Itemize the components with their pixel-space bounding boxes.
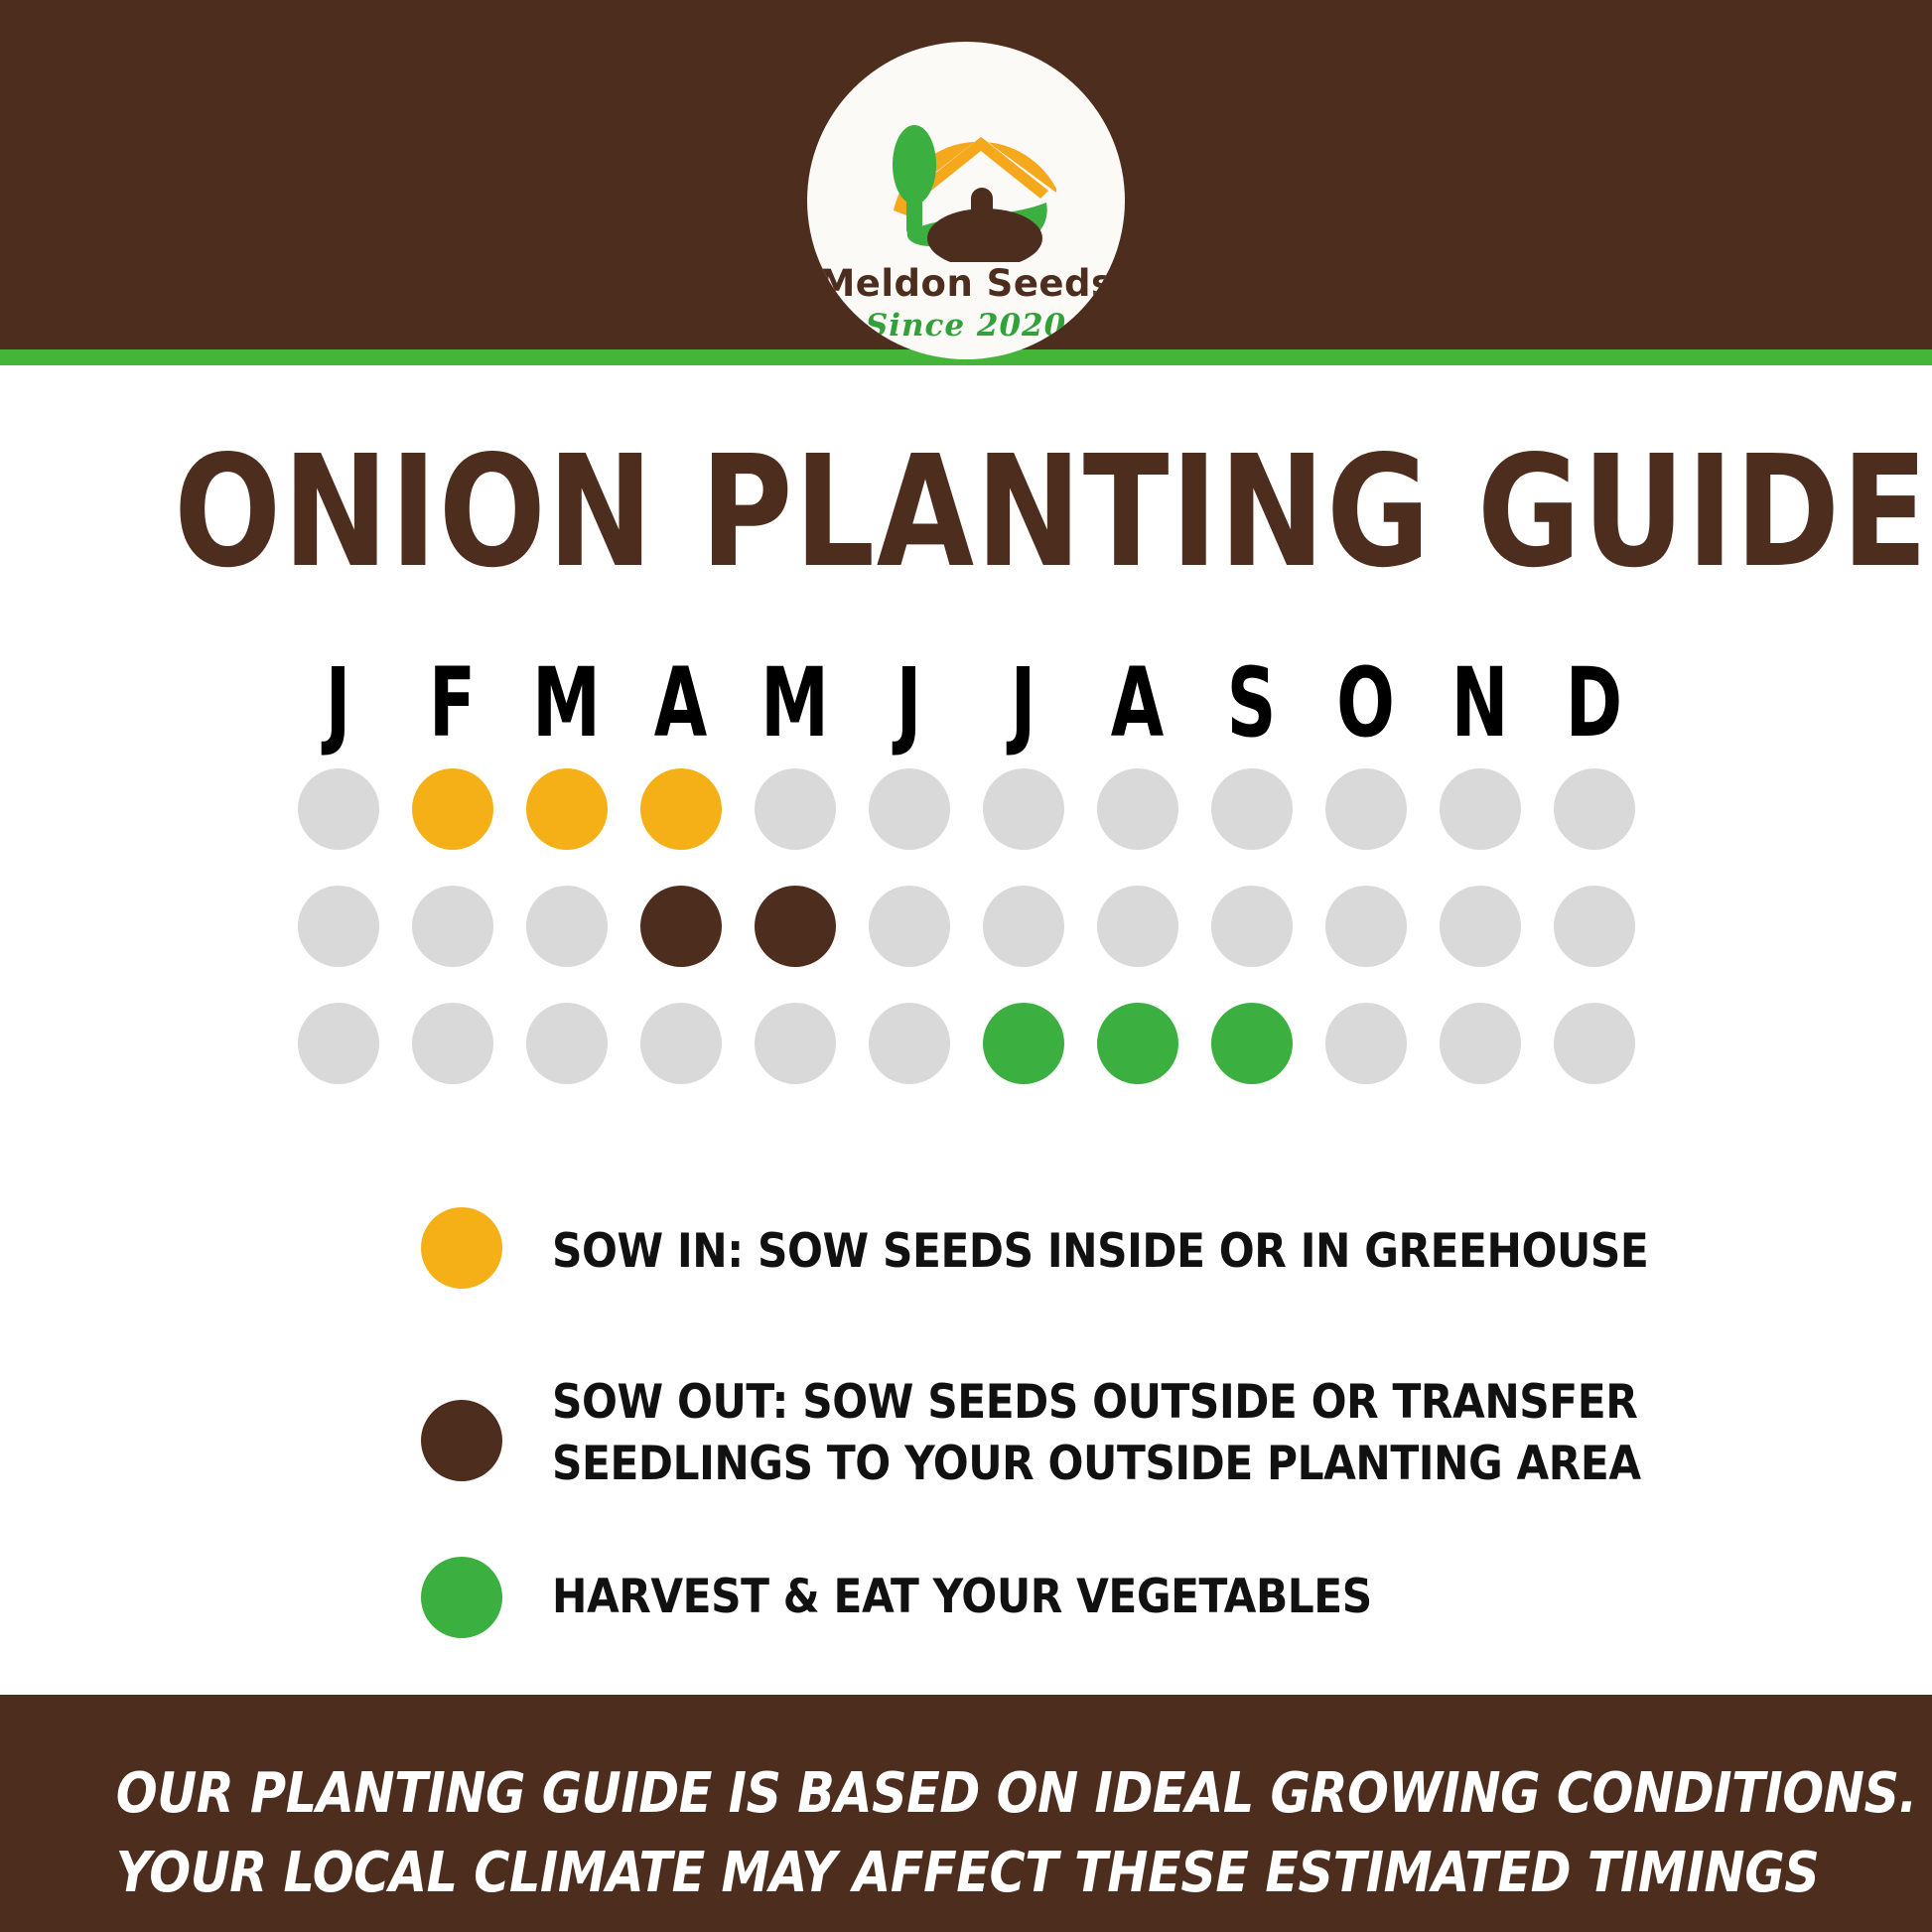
- brand-since: Since 2020: [807, 308, 1125, 344]
- legend-swatch-sow-in: [421, 1207, 502, 1289]
- calendar-dot-inactive: [1554, 1003, 1635, 1084]
- calendar-dot-inactive: [1097, 886, 1178, 967]
- calendar-dot-inactive: [1440, 886, 1521, 967]
- calendar-cell: [281, 768, 395, 850]
- calendar-cell: [1309, 886, 1423, 967]
- calendar-cell: [1537, 768, 1651, 850]
- calendar-cell: [623, 886, 738, 967]
- legend-line: SOW OUT: SOW SEEDS OUTSIDE OR TRANSFER: [552, 1372, 1641, 1434]
- calendar-dot-active: [640, 768, 722, 850]
- legend-item-sow-out: SOW OUT: SOW SEEDS OUTSIDE OR TRANSFER S…: [421, 1358, 1612, 1495]
- calendar-cell: [1423, 886, 1537, 967]
- calendar-dot-active: [412, 768, 493, 850]
- footer-band: OUR PLANTING GUIDE IS BASED ON IDEAL GRO…: [0, 1695, 1932, 1932]
- calendar-cell: [966, 1003, 1080, 1084]
- page-title: ONION PLANTING GUIDE: [174, 435, 1758, 589]
- calendar-dot-inactive: [298, 886, 379, 967]
- calendar-dot-inactive: [755, 768, 836, 850]
- calendar-cell: [281, 886, 395, 967]
- legend-line: HARVEST & EAT YOUR VEGETABLES: [552, 1567, 1372, 1628]
- calendar-dot-active: [526, 768, 608, 850]
- month-label-1: J: [297, 655, 379, 751]
- calendar-dot-active: [640, 886, 722, 967]
- calendar-dot-inactive: [1097, 768, 1178, 850]
- brand-name: Meldon Seeds: [807, 262, 1125, 305]
- calendar-dot-inactive: [1554, 886, 1635, 967]
- calendar-cell: [738, 886, 852, 967]
- sow-out-row: [281, 868, 1651, 985]
- brand-logo-badge: Meldon Seeds Since 2020: [807, 42, 1125, 359]
- calendar-dot-active: [1097, 1003, 1178, 1084]
- calendar-dot-inactive: [1325, 1003, 1407, 1084]
- calendar-dot-active: [1211, 1003, 1293, 1084]
- calendar-dot-inactive: [869, 1003, 950, 1084]
- farmhouse-with-tree-icon: [852, 93, 1080, 262]
- calendar-dot-inactive: [1440, 1003, 1521, 1084]
- calendar-dot-inactive: [869, 768, 950, 850]
- legend-line: SEEDLINGS TO YOUR OUTSIDE PLANTING AREA: [552, 1434, 1641, 1495]
- calendar-dot-inactive: [1325, 886, 1407, 967]
- calendar-dot-inactive: [298, 768, 379, 850]
- planting-calendar: J F M A M J J A S O N D: [281, 655, 1651, 1102]
- calendar-cell: [1423, 768, 1537, 850]
- legend-swatch-sow-out: [421, 1400, 502, 1481]
- month-label-11: N: [1439, 655, 1521, 751]
- calendar-cell: [1309, 1003, 1423, 1084]
- calendar-cell: [1080, 768, 1194, 850]
- calendar-cell: [1194, 768, 1309, 850]
- month-label-6: J: [868, 655, 950, 751]
- calendar-cell: [966, 768, 1080, 850]
- calendar-cell: [1537, 1003, 1651, 1084]
- calendar-dot-inactive: [1325, 768, 1407, 850]
- calendar-dot-inactive: [1211, 886, 1293, 967]
- calendar-cell: [1194, 886, 1309, 967]
- legend-swatch-harvest: [421, 1557, 502, 1638]
- month-label-12: D: [1553, 655, 1635, 751]
- harvest-row: [281, 985, 1651, 1102]
- calendar-cell: [395, 1003, 509, 1084]
- month-label-5: M: [754, 655, 836, 751]
- footer-line-1: OUR PLANTING GUIDE IS BASED ON IDEAL GRO…: [116, 1754, 1816, 1834]
- calendar-dot-inactive: [1440, 768, 1521, 850]
- calendar-cell: [738, 768, 852, 850]
- calendar-cell: [1537, 886, 1651, 967]
- month-label-7: J: [982, 655, 1064, 751]
- calendar-dot-inactive: [640, 1003, 722, 1084]
- calendar-cell: [395, 768, 509, 850]
- legend-label-sow-out: SOW OUT: SOW SEEDS OUTSIDE OR TRANSFER S…: [552, 1358, 1641, 1495]
- legend-item-harvest: HARVEST & EAT YOUR VEGETABLES: [421, 1553, 1612, 1638]
- month-label-10: O: [1324, 655, 1407, 751]
- calendar-cell: [852, 1003, 966, 1084]
- calendar-dot-inactive: [1211, 768, 1293, 850]
- calendar-cell: [1194, 1003, 1309, 1084]
- calendar-dot-inactive: [869, 886, 950, 967]
- calendar-dot-inactive: [526, 1003, 608, 1084]
- calendar-dot-active: [755, 886, 836, 967]
- calendar-dot-inactive: [755, 1003, 836, 1084]
- month-label-4: A: [639, 655, 722, 751]
- calendar-cell: [852, 768, 966, 850]
- calendar-dot-inactive: [1554, 768, 1635, 850]
- calendar-dot-inactive: [298, 1003, 379, 1084]
- legend-label-harvest: HARVEST & EAT YOUR VEGETABLES: [552, 1553, 1372, 1628]
- month-label-9: S: [1210, 655, 1293, 751]
- calendar-dot-inactive: [412, 886, 493, 967]
- calendar-cell: [623, 768, 738, 850]
- calendar-cell: [852, 886, 966, 967]
- calendar-cell: [509, 1003, 623, 1084]
- calendar-cell: [395, 886, 509, 967]
- month-label-2: F: [411, 655, 493, 751]
- legend-item-sow-in: SOW IN: SOW SEEDS INSIDE OR IN GREEHOUSE: [421, 1207, 1612, 1289]
- footer-disclaimer: OUR PLANTING GUIDE IS BASED ON IDEAL GRO…: [116, 1754, 1816, 1912]
- footer-line-2: YOUR LOCAL CLIMATE MAY AFFECT THESE ESTI…: [116, 1834, 1816, 1913]
- legend-label-sow-in: SOW IN: SOW SEEDS INSIDE OR IN GREEHOUSE: [552, 1207, 1648, 1283]
- legend-line: SOW IN: SOW SEEDS INSIDE OR IN GREEHOUSE: [552, 1221, 1648, 1283]
- calendar-cell: [1309, 768, 1423, 850]
- calendar-cell: [738, 1003, 852, 1084]
- month-header-row: J F M A M J J A S O N D: [281, 655, 1651, 751]
- calendar-cell: [1080, 1003, 1194, 1084]
- calendar-cell: [1080, 886, 1194, 967]
- calendar-cell: [509, 768, 623, 850]
- calendar-dot-inactive: [983, 768, 1064, 850]
- calendar-dot-inactive: [983, 886, 1064, 967]
- legend: SOW IN: SOW SEEDS INSIDE OR IN GREEHOUSE…: [421, 1207, 1612, 1708]
- calendar-cell: [966, 886, 1080, 967]
- month-label-8: A: [1096, 655, 1178, 751]
- calendar-cell: [1423, 1003, 1537, 1084]
- calendar-dot-active: [983, 1003, 1064, 1084]
- calendar-cell: [509, 886, 623, 967]
- calendar-cell: [623, 1003, 738, 1084]
- month-label-3: M: [525, 655, 608, 751]
- sow-in-row: [281, 751, 1651, 868]
- calendar-cell: [281, 1003, 395, 1084]
- calendar-dot-inactive: [412, 1003, 493, 1084]
- calendar-dot-inactive: [526, 886, 608, 967]
